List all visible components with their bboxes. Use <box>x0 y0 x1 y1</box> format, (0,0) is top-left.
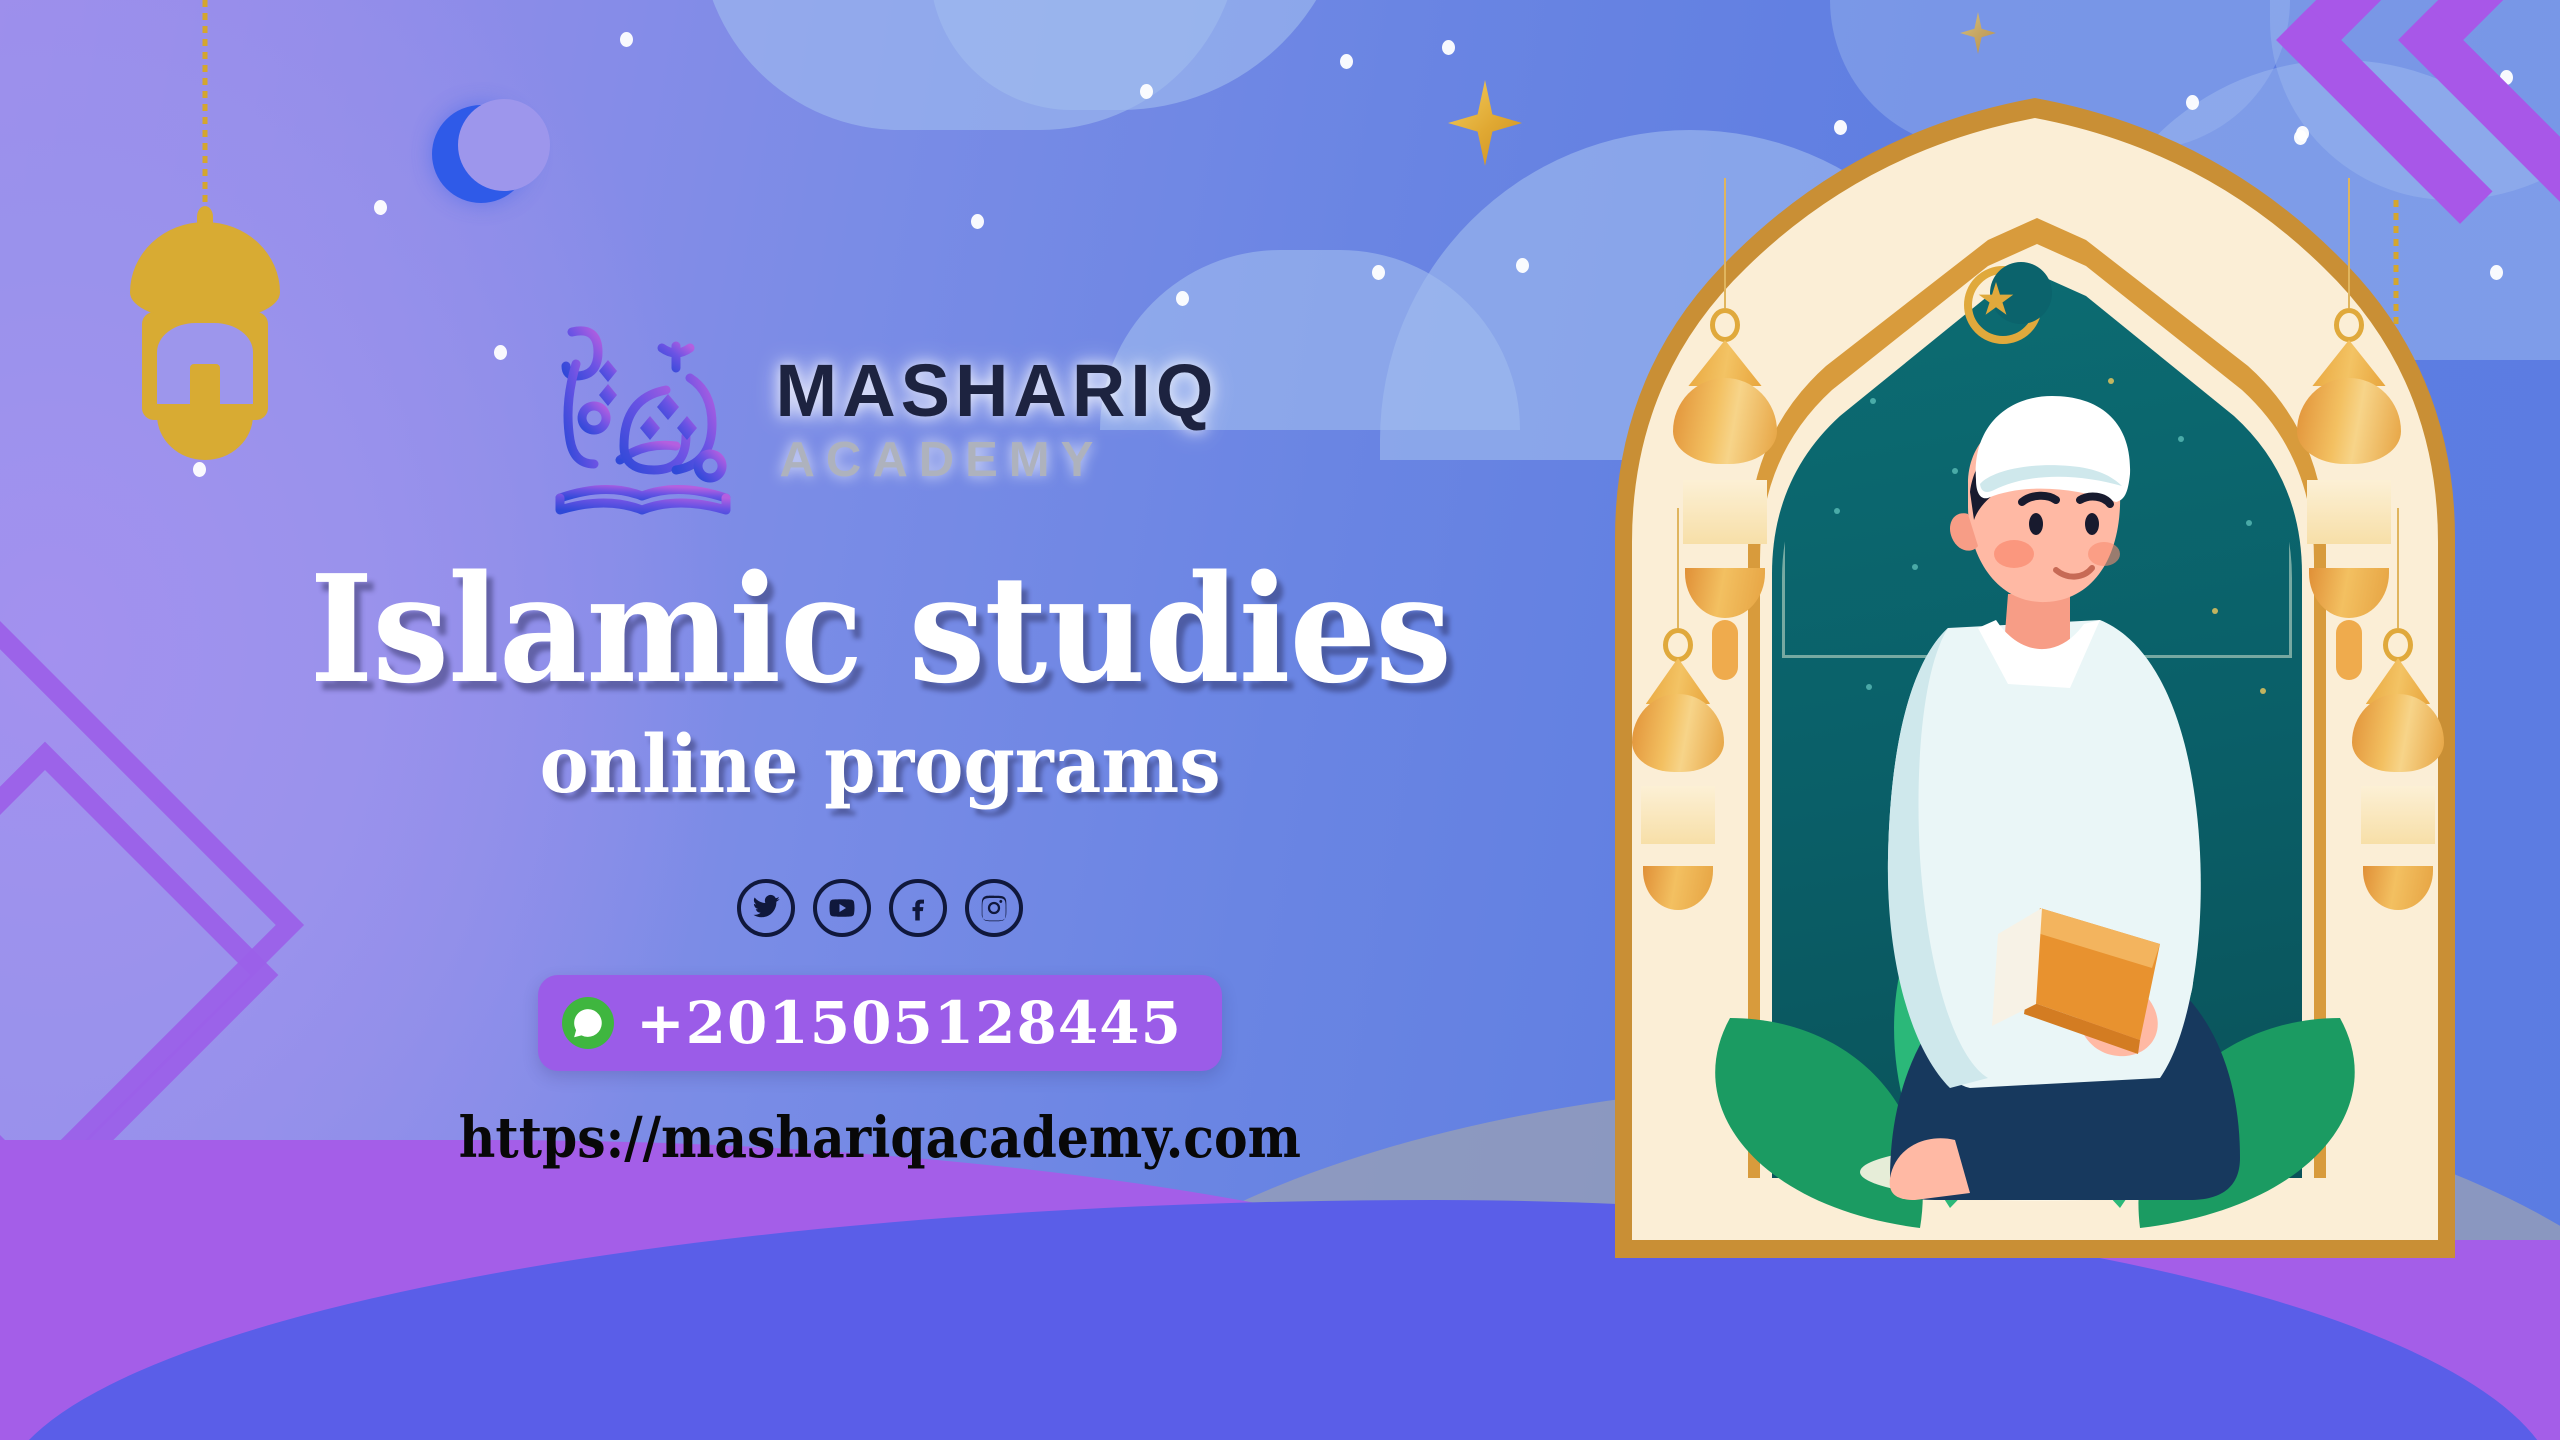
whatsapp-icon <box>562 997 614 1049</box>
mashariq-calligraphy-book-icon <box>542 320 750 518</box>
content-column: MASHARIQ ACADEMY Islamic studies online … <box>330 320 1430 1171</box>
whatsapp-phone-button[interactable]: +201505128445 <box>538 975 1222 1071</box>
youtube-icon <box>827 893 857 923</box>
student-figure <box>1740 388 2340 1218</box>
star-dot <box>1442 40 1455 55</box>
star-dot <box>1372 265 1385 280</box>
twitter-icon <box>751 893 781 923</box>
page-title: Islamic studies <box>309 554 1450 705</box>
social-link-instagram[interactable] <box>965 879 1023 937</box>
star-dot <box>193 462 206 477</box>
brand-wordmark: MASHARIQ ACADEMY <box>776 354 1219 485</box>
page-subtitle: online programs <box>539 717 1220 811</box>
facebook-icon <box>903 893 933 923</box>
social-links <box>737 879 1023 937</box>
star-dot <box>620 32 633 47</box>
brand-subtitle: ACADEMY <box>776 436 1219 485</box>
brand-name: MASHARIQ <box>776 354 1219 428</box>
star-dot <box>1140 84 1153 99</box>
star-dot <box>971 214 984 229</box>
social-link-youtube[interactable] <box>813 879 871 937</box>
phone-number: +201505128445 <box>636 989 1182 1057</box>
instagram-icon <box>979 893 1009 923</box>
social-link-facebook[interactable] <box>889 879 947 937</box>
website-url[interactable]: https://mashariqacademy.com <box>459 1105 1301 1171</box>
crescent-star-icon <box>1964 266 2042 344</box>
promo-banner: MASHARIQ ACADEMY Islamic studies online … <box>0 0 2560 1440</box>
star-dot <box>1340 54 1353 69</box>
star-dot <box>1176 291 1189 306</box>
star-dot <box>1516 258 1529 273</box>
social-link-twitter[interactable] <box>737 879 795 937</box>
brand-logo: MASHARIQ ACADEMY <box>542 320 1219 518</box>
star-dot <box>374 200 387 215</box>
crescent-moon-icon <box>432 105 530 203</box>
mosque-illustration <box>1560 68 2510 1268</box>
hanging-lantern-icon <box>130 0 280 430</box>
